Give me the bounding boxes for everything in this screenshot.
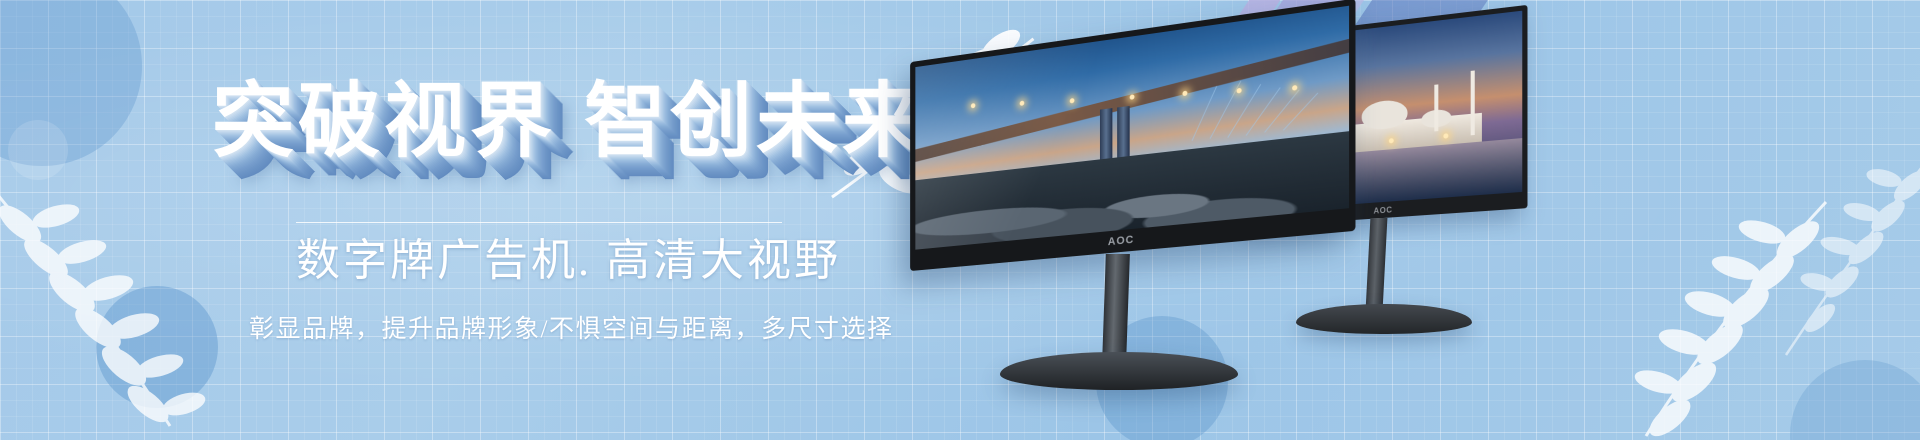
bridge-lamp	[1237, 88, 1242, 94]
headline-part-1: 突破视界	[212, 76, 556, 167]
bridge-rocks	[915, 131, 1349, 249]
bridge-lamp	[1182, 91, 1187, 97]
monitor-back-brand: AOC	[1373, 205, 1392, 215]
mosque-minaret-right	[1471, 70, 1475, 135]
bridge-cable	[1228, 84, 1262, 138]
mosque-minaret-inner-right	[1435, 84, 1439, 131]
subheadline: 数字牌广告机. 高清大视野	[296, 233, 841, 289]
bridge-lamp	[1020, 100, 1025, 105]
monitor-front-brand: AOC	[1108, 234, 1134, 248]
headline: 突破视界智创未来	[212, 74, 928, 170]
monitor-front-bezel: AOC	[910, 0, 1355, 271]
description-text: 彰显品牌，提升品牌形象/不惧空间与距离，多尺寸选择	[249, 313, 893, 347]
promo-banner: 突破视界智创未来 数字牌广告机. 高清大视野 彰显品牌，提升品牌形象/不惧空间与…	[0, 0, 1920, 440]
bridge-cable	[1264, 90, 1299, 133]
monitor-front-screen	[915, 6, 1349, 250]
copy-block: 突破视界智创未来 数字牌广告机. 高清大视野 彰显品牌，提升品牌形象/不惧空间与…	[0, 0, 900, 440]
bridge-lamp	[971, 103, 975, 108]
headline-part-2: 智创未来	[584, 76, 928, 167]
bridge-cable	[1283, 93, 1318, 131]
bridge-lamp	[1070, 98, 1075, 104]
divider-rule	[296, 222, 782, 223]
bridge-cable	[1246, 87, 1281, 135]
monitor-front-stand-base	[1000, 352, 1238, 390]
bridge-lamp	[1130, 94, 1135, 100]
monitor-front: AOC	[890, 32, 1370, 372]
monitor-front-stand-neck	[1102, 254, 1130, 362]
bridge-lamp	[1292, 85, 1297, 91]
product-group: AOC	[880, 0, 1920, 440]
